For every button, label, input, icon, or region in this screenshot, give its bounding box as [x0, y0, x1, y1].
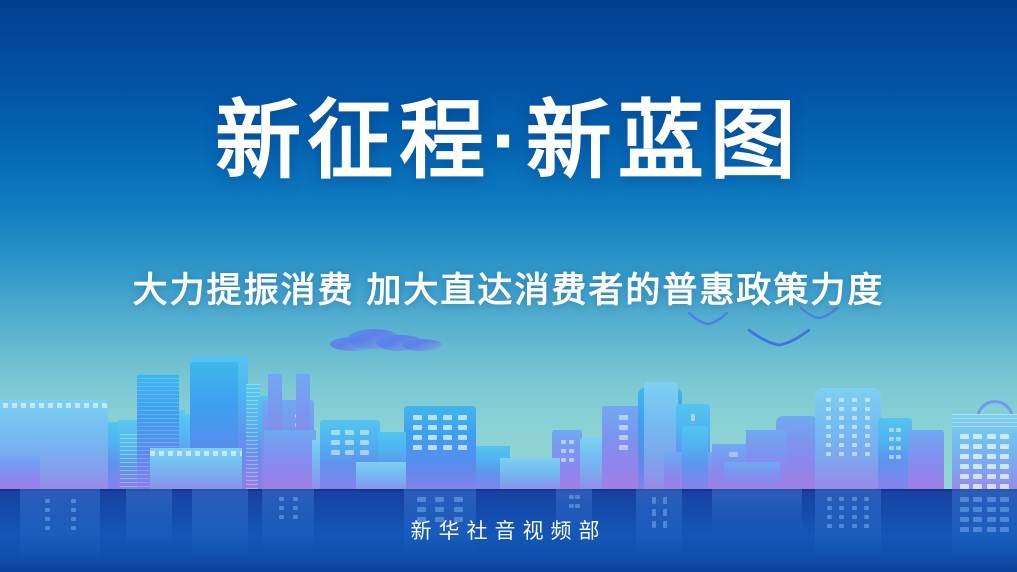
building — [878, 418, 912, 492]
window-grid — [878, 418, 912, 492]
building — [0, 456, 40, 492]
poster-canvas: 新征程·新蓝图 大力提振消费 加大直达消费者的普惠政策力度 新华社音视频部 — [0, 0, 1017, 572]
building-top-band — [150, 451, 242, 456]
building — [500, 458, 560, 492]
page-title: 新征程·新蓝图 — [0, 95, 1017, 188]
building — [724, 462, 780, 492]
page-subtitle: 大力提振消费 加大直达消费者的普惠政策力度 — [0, 262, 1017, 313]
window-grid — [815, 388, 881, 492]
building — [952, 414, 1017, 492]
building — [108, 422, 118, 492]
window-grid — [404, 406, 476, 492]
building — [682, 426, 708, 492]
building — [815, 388, 881, 492]
building — [356, 462, 406, 492]
building — [150, 448, 242, 492]
city-skyline — [0, 0, 1017, 492]
building-top-band — [0, 403, 108, 408]
building — [404, 406, 476, 492]
window-grid — [952, 414, 1017, 492]
building — [908, 430, 944, 492]
credit-line: 新华社音视频部 — [0, 515, 1017, 545]
building — [264, 430, 316, 492]
